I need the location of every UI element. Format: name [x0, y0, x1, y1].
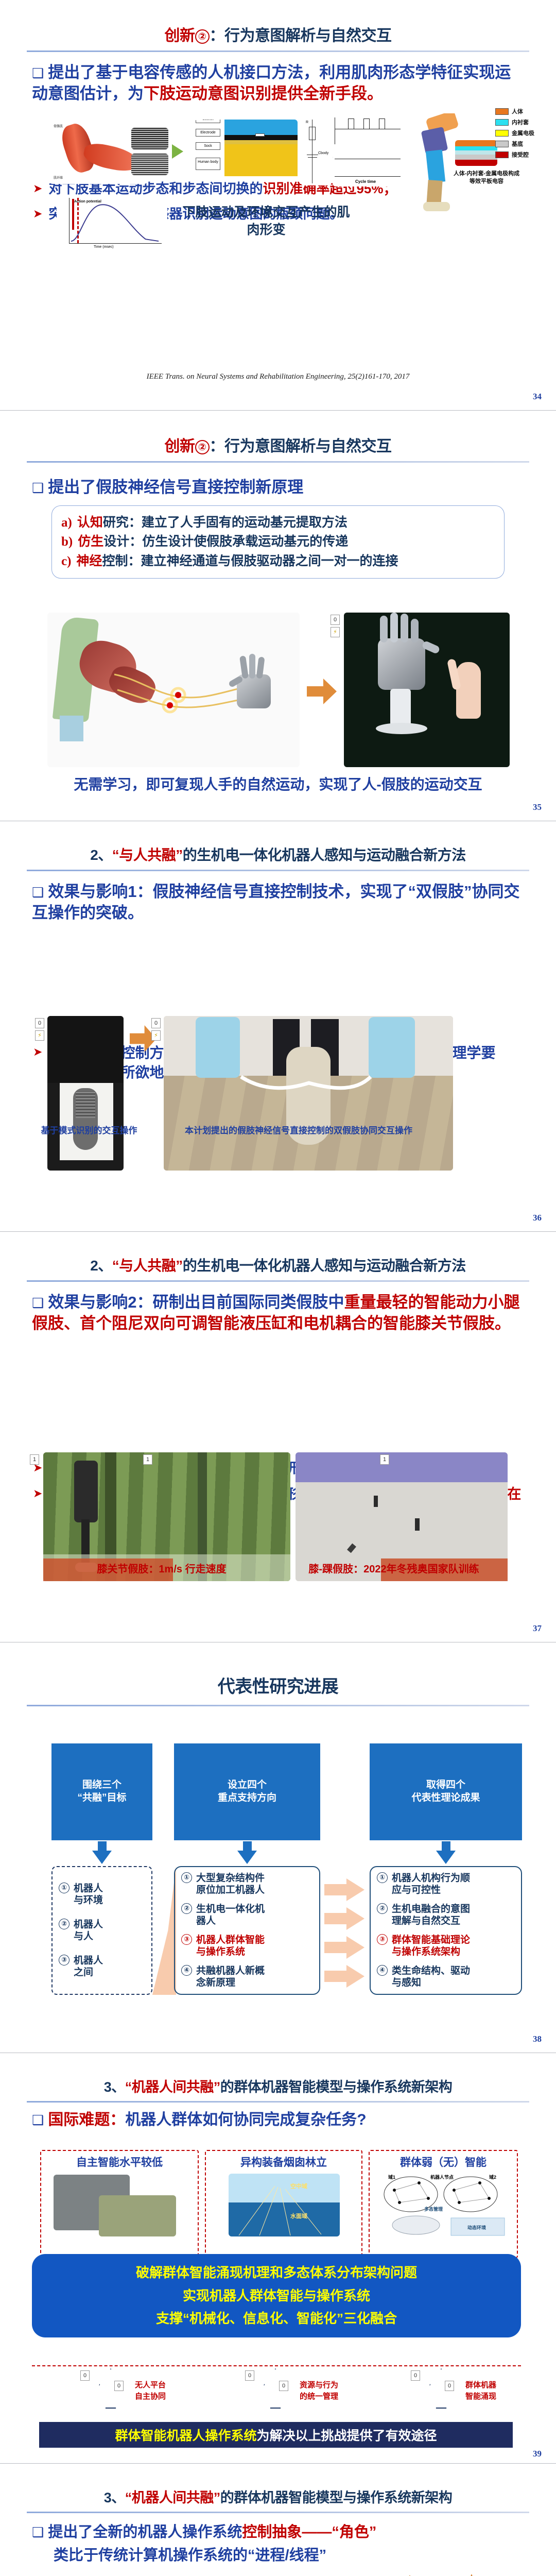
map-arrow-icon	[324, 1965, 364, 1988]
page-title: 2、“与人共融”的生机电一体化机器人感知与运动融合新方法	[0, 1232, 556, 1275]
field-photo	[99, 2195, 176, 2236]
legend: 人体 内衬套 金属电极 基底 接受腔	[495, 107, 534, 161]
video-play-tag[interactable]: 0	[445, 2381, 454, 2391]
slide-36: 2、“与人共融”的生机电一体化机器人感知与运动融合新方法 ❑效果与影响1：假肢神…	[0, 821, 556, 1232]
subitem-box: a) 认知研究：建立了人手固有的运动基元提取方法 b) 仿生设计：仿生设计使假肢…	[51, 505, 505, 579]
direction-item: ④共融机器人新概 念新原理	[181, 1965, 313, 1989]
main-bullet-highlight: 控制抽象——“角色”	[242, 2524, 376, 2540]
green-arrow-icon	[172, 144, 183, 159]
figure-caption: 下肢运动及环境交互产生的肌肉形变	[181, 204, 351, 239]
slide-39: 3、“机器人间共融”的群体机器智能模型与操作系统新架构 ❑国际难题：机器人群体如…	[0, 2053, 556, 2464]
video-audio-tag[interactable]: ⚡	[151, 1030, 161, 1041]
title-rule	[27, 870, 529, 871]
video-play-tag[interactable]: 1	[143, 1454, 152, 1465]
main-bullet: ❑国际难题：机器人群体如何协同完成复杂任务?	[32, 2110, 524, 2130]
caption-left: 膝关节假肢：1m/s 行走速度	[43, 1561, 280, 1575]
capacitive-model-figure: Socket Electrode Sock Human body	[195, 120, 298, 181]
slide-37: 2、“与人共融”的生机电一体化机器人感知与运动融合新方法 ❑效果与影响2：研制出…	[0, 1232, 556, 1642]
page-number: 36	[533, 1213, 542, 1223]
label-action-potential: Action potential	[74, 200, 101, 204]
bullet-square-icon: ❑	[32, 480, 44, 496]
title-circle-number: ②	[195, 440, 210, 454]
card-title: 自主智能水平较低	[41, 2151, 198, 2172]
video-play-tag[interactable]: 1	[30, 1454, 39, 1465]
label-cbody: Cbody	[318, 151, 328, 155]
subitem-c: c) 神经控制：建立神经通道与假肢驱动器之间一对一的连接	[61, 552, 495, 571]
video-play-tag[interactable]: 0	[114, 2381, 124, 2391]
main-bullet: ❑提出了全新的机器人操作系统控制抽象——“角色”	[32, 2522, 524, 2542]
action-potential-chart: Action potential Time (msec)	[57, 196, 167, 252]
main-bullet: ❑效果与影响1：假肢神经信号直接控制技术，实现了“双假肢”协同交互操作的突破。	[32, 882, 524, 924]
arrow-down-goals	[51, 1841, 152, 1864]
title-prefix: 创新	[165, 27, 195, 44]
page-title: 创新②：行为意图解析与自然交互	[0, 0, 556, 45]
title-rule	[27, 461, 529, 463]
arrow-bullet-icon: ➤	[33, 1485, 42, 1502]
column-header-results: 取得四个 代表性理论成果	[370, 1743, 522, 1840]
title-rule	[27, 2101, 529, 2103]
legend-swatch	[495, 108, 509, 115]
label-multistate-mgmt: 多态管理	[424, 2206, 443, 2212]
subitem-a: a) 认知研究：建立了人手固有的运动基元提取方法	[61, 513, 495, 533]
pattern-recognition-video	[47, 1016, 124, 1171]
video-audio-tag[interactable]: ⚡	[35, 1030, 44, 1041]
label-domain-1: 域1	[388, 2174, 395, 2180]
legend-swatch	[495, 119, 509, 126]
subitem-b: b) 仿生设计：仿生设计使假肢承载运动基元的传递	[61, 532, 495, 552]
main-bullet-text: 提出了全新的机器人操作系统	[48, 2524, 242, 2540]
slide-35: 创新②：行为意图解析与自然交互 ❑提出了假肢神经信号直接控制新原理 a) 认知研…	[0, 411, 556, 821]
title-rule	[27, 1280, 529, 1282]
bullet-square-icon: ❑	[32, 65, 44, 81]
direction-item: ①大型复杂结构件 原位加工机器人	[181, 1872, 313, 1896]
label-cycle-time: Cycle time	[355, 179, 376, 184]
label-socket: Socket	[196, 120, 220, 123]
result-item: ④类生命结构、驱动 与感知	[377, 1965, 515, 1989]
video-play-tag[interactable]: 0	[35, 1018, 44, 1028]
direction-item: ②生机电一体化机 器人	[181, 1903, 313, 1927]
main-bullet-text: ：研制出目前国际同类假肢中	[137, 1293, 344, 1311]
results-column: ①机器人机构行为顺 应与可控性 ②生机电融合的意图 理解与自然交互 ③群体智能基…	[370, 1866, 522, 1995]
formation-diagram: 12345 21543 54213	[324, 2573, 512, 2576]
caption-right: 本计划提出的假肢神经信号直接控制的双假肢协同交互操作	[154, 1125, 443, 1137]
footer-text: 为解决以上挑战提供了有效途径	[257, 2429, 437, 2443]
legend-item: 接受腔	[495, 150, 534, 159]
card-title: 群体弱（无）智能	[370, 2151, 517, 2172]
label-r: R	[306, 121, 308, 124]
goal-item: ①机器人 与环境	[59, 1883, 145, 1906]
map-arrow-icon	[324, 1878, 364, 1901]
footer-highlight: 群体智能机器人操作系统	[115, 2429, 256, 2443]
main-bullet-text: 提出了假肢神经信号直接控制新原理	[48, 478, 303, 496]
slide-34: 创新②：行为意图解析与自然交互 ❑提出了基于电容传感的人机接口方法，利用肌肉形态…	[0, 0, 556, 411]
title-rest: ：行为意图解析与自然交互	[210, 27, 392, 44]
page-number: 35	[533, 802, 542, 812]
slide-38: 代表性研究进展 围绕三个 “共融”目标 设立四个 重点支持方向 取得四个 代表性…	[0, 1642, 556, 2053]
main-bullet: ❑效果与影响2：研制出目前国际同类假肢中重量最轻的智能动力小腿假肢、首个阻尼双向…	[32, 1292, 524, 1334]
legend-swatch	[495, 130, 509, 137]
circuit-diagram: R Cbody	[301, 117, 332, 185]
page-title: 3、“机器人间共融”的群体机器智能模型与操作系统新架构	[0, 2053, 556, 2096]
arrow-label-3: 群体机器 智能涌现	[465, 2380, 496, 2402]
page-title: 创新②：行为意图解析与自然交互	[0, 411, 556, 456]
bullet-lead: 国际难题：	[48, 2111, 125, 2128]
bullet-square-icon: ❑	[32, 885, 44, 900]
waveform-diagram: Vh Vl Cycle time	[333, 114, 405, 187]
label-dynamic-env: 动态环境	[467, 2224, 486, 2231]
video-play-tag[interactable]: 0	[331, 615, 340, 625]
xaxis-label: Time (msec)	[94, 245, 114, 249]
funnel-shape	[152, 1866, 176, 1995]
main-bullet-text: 机器人群体如何协同完成复杂任务?	[125, 2111, 366, 2128]
main-bullet-highlight: 下肢运动意图识别提供全新手段。	[144, 84, 383, 103]
bullet-square-icon: ❑	[32, 2112, 44, 2128]
video-play-tag[interactable]: 0	[411, 2370, 420, 2381]
bullet-lead: 效果与影响2	[48, 1293, 136, 1311]
citation: IEEE Trans. on Neural Systems and Rehabi…	[0, 372, 556, 381]
prosthetic-hand-video	[344, 613, 510, 767]
page-title: 3、“机器人间共融”的群体机器智能模型与操作系统新架构	[0, 2464, 556, 2506]
label-human-body: Human body	[196, 158, 220, 170]
transition-arrow-icon	[307, 679, 337, 704]
page-number: 38	[533, 2034, 542, 2044]
caption-right: 膝-踝假肢：2022年冬残奥国家队训练	[273, 1561, 515, 1575]
result-item-highlight: ③群体智能基础理论 与操作系统架构	[377, 1934, 515, 1958]
bullet-square-icon: ❑	[32, 1295, 44, 1311]
challenge-card-2: 异构装备烟囱林立 空中域 水面域	[205, 2150, 362, 2258]
legend-swatch	[495, 151, 509, 158]
main-bullet: ❑提出了假肢神经信号直接控制新原理	[32, 477, 524, 498]
swarm-graph-figure: 域1 机器人节点 域2 多态管理 动态环境	[379, 2173, 510, 2238]
challenge-card-1: 自主智能水平较低	[40, 2150, 199, 2258]
key-message-banner: 破解群体智能涌现机理和多态体系分布架构问题 实现机器人群体智能与操作系统 支撑“…	[32, 2254, 521, 2337]
column-header-goals: 围绕三个 “共融”目标	[51, 1743, 152, 1840]
page-title: 2、“与人共融”的生机电一体化机器人感知与运动融合新方法	[0, 821, 556, 865]
page-title: 代表性研究进展	[0, 1642, 556, 1698]
legend-swatch	[495, 141, 509, 147]
direction-item-highlight: ③机器人群体智能 与操作系统	[181, 1934, 313, 1958]
bullet-lead: 效果与影响1	[48, 883, 136, 901]
arrow-down-results	[370, 1841, 522, 1864]
video-play-tag[interactable]: 0	[279, 2381, 288, 2391]
slide-footer: 无需学习，即可复现人手的自然运动，实现了人-假肢的运动交互	[0, 773, 556, 794]
dual-prosthesis-video	[164, 1016, 453, 1171]
goal-item: ③机器人 之间	[59, 1955, 145, 1978]
arm-nerve-illustration	[47, 613, 300, 767]
goals-column: ①机器人 与环境 ②机器人 与人 ③机器人 之间	[51, 1866, 152, 1995]
banner-line-1: 破解群体智能涌现机理和多态体系分布架构问题	[32, 2261, 521, 2284]
title-circle-number: ②	[195, 29, 210, 44]
page-number: 37	[533, 1623, 542, 1634]
arrow-label-1: 无人平台 自主协同	[135, 2380, 166, 2402]
map-arrow-icon	[324, 1907, 364, 1930]
layer-stack-figure	[455, 140, 497, 166]
slide-40: 3、“机器人间共融”的群体机器智能模型与操作系统新架构 ❑提出了全新的机器人操作…	[0, 2464, 556, 2576]
arrow-bullet-icon: ➤	[33, 180, 42, 197]
label-electrode: Electrode	[196, 129, 220, 137]
ultrasound-strip-2	[131, 154, 168, 175]
video-play-tag[interactable]: 0	[151, 1018, 161, 1028]
main-bullet: ❑提出了基于电容传感的人机接口方法，利用肌肉形态学特征实现运动意图估计，为下肢运…	[32, 62, 524, 105]
legend-item: 人体	[495, 107, 534, 115]
label-domain-2: 域2	[489, 2174, 496, 2180]
label-sock: Sock	[196, 142, 220, 150]
video-play-tag[interactable]: 0	[80, 2370, 90, 2381]
video-audio-tag[interactable]: ⚡	[331, 627, 340, 637]
column-header-directions: 设立四个 重点支持方向	[174, 1743, 320, 1840]
title-rule	[27, 50, 529, 52]
result-item: ②生机电融合的意图 理解与自然交互	[377, 1903, 515, 1927]
ultrasound-strip	[131, 128, 168, 149]
label-vh: Vh	[333, 156, 333, 159]
arrow-bullet-icon: ➤	[33, 205, 42, 222]
main-bullet-line2: 类比于传统计算机操作系统的“进程/线程”	[54, 2543, 524, 2565]
arrow-bullet-icon: ➤	[33, 1043, 42, 1060]
legend-item: 金属电极	[495, 129, 534, 137]
slide-deck: 创新②：行为意图解析与自然交互 ❑提出了基于电容传感的人机接口方法，利用肌肉形态…	[0, 0, 556, 2576]
page-number: 34	[533, 392, 542, 402]
card-title: 异构装备烟囱林立	[206, 2151, 361, 2172]
caption-left: 基于模式识别的交互操作	[35, 1125, 143, 1137]
result-item: ①机器人机构行为顺 应与可控性	[377, 1872, 515, 1896]
challenge-card-3: 群体弱（无）智能 域1 机器人节点 域2 多态管理 动态环境	[369, 2150, 518, 2258]
title-rule	[27, 1705, 529, 1706]
map-arrow-icon	[324, 1936, 364, 1959]
banner-line-2: 实现机器人群体智能与操作系统	[32, 2284, 521, 2308]
label-robot-node: 机器人节点	[430, 2174, 454, 2180]
directions-column: ①大型复杂结构件 原位加工机器人 ②生机电一体化机 器人 ③机器人群体智能 与操…	[174, 1866, 320, 1995]
goal-item: ②机器人 与人	[59, 1919, 145, 1942]
video-play-tag[interactable]: 0	[245, 2370, 254, 2381]
video-play-tag[interactable]: 1	[380, 1454, 389, 1465]
banner-line-3: 支撑“机械化、信息化、智能化”三化融合	[32, 2307, 521, 2330]
bullet-square-icon: ❑	[32, 2524, 44, 2540]
slide-footer-band: 群体智能机器人操作系统为解决以上挑战提供了有效途径	[39, 2422, 513, 2448]
legend-caption: 人体-内衬套-金属电极构成等效平板电容	[453, 170, 520, 185]
arrow-down-directions	[174, 1841, 320, 1864]
multi-domain-photo: 空中域 水面域	[229, 2174, 340, 2236]
arrow-label-2: 资源与行为 的统一管理	[300, 2380, 338, 2402]
title-rule	[27, 2512, 529, 2513]
page-number: 39	[533, 2449, 542, 2459]
legend-item: 基底	[495, 140, 534, 148]
legend-item: 内衬套	[495, 118, 534, 126]
